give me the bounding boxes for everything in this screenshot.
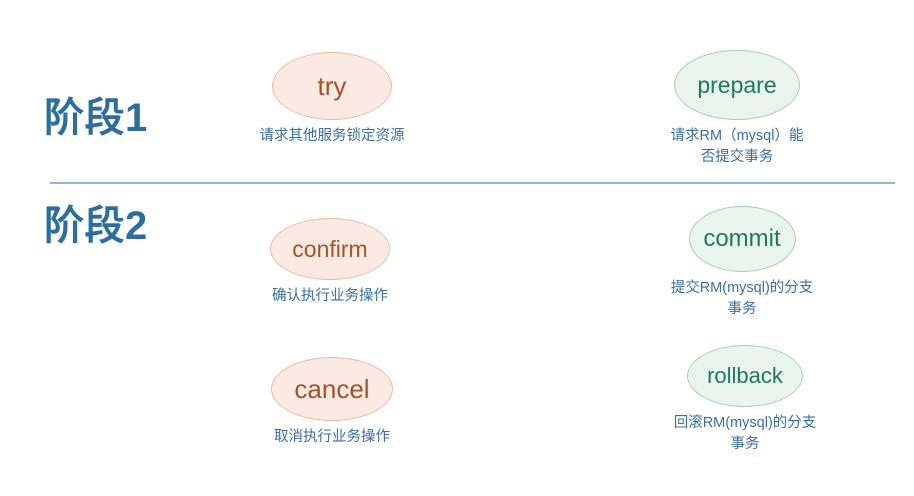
node-confirm-caption: 确认执行业务操作 [272, 286, 388, 307]
tcc-two-phase-diagram: 阶段1 阶段2 try 请求其他服务锁定资源 prepare 请求RM（mysq… [0, 0, 914, 496]
stage-divider [50, 182, 895, 184]
node-confirm-ellipse: confirm [270, 218, 390, 280]
stage-2-label: 阶段2 [44, 206, 148, 246]
node-rollback: rollback 回滚RM(mysql)的分支 事务 [640, 345, 850, 455]
node-prepare-ellipse: prepare [674, 50, 800, 120]
node-commit-caption: 提交RM(mysql)的分支 事务 [671, 278, 814, 320]
node-rollback-ellipse: rollback [687, 345, 803, 407]
stage-1-label: 阶段1 [44, 98, 148, 138]
node-commit-ellipse: commit [689, 206, 796, 272]
node-commit: commit 提交RM(mysql)的分支 事务 [637, 206, 847, 320]
node-try: try 请求其他服务锁定资源 [232, 52, 432, 147]
node-cancel: cancel 取消执行业务操作 [232, 357, 432, 448]
node-confirm: confirm 确认执行业务操作 [230, 218, 430, 307]
node-try-ellipse: try [272, 52, 392, 120]
node-try-caption: 请求其他服务锁定资源 [260, 126, 405, 147]
node-cancel-caption: 取消执行业务操作 [274, 427, 390, 448]
node-cancel-ellipse: cancel [271, 357, 393, 421]
node-rollback-caption: 回滚RM(mysql)的分支 事务 [674, 413, 817, 455]
node-prepare: prepare 请求RM（mysql）能 否提交事务 [632, 50, 842, 168]
node-prepare-caption: 请求RM（mysql）能 否提交事务 [671, 126, 804, 168]
